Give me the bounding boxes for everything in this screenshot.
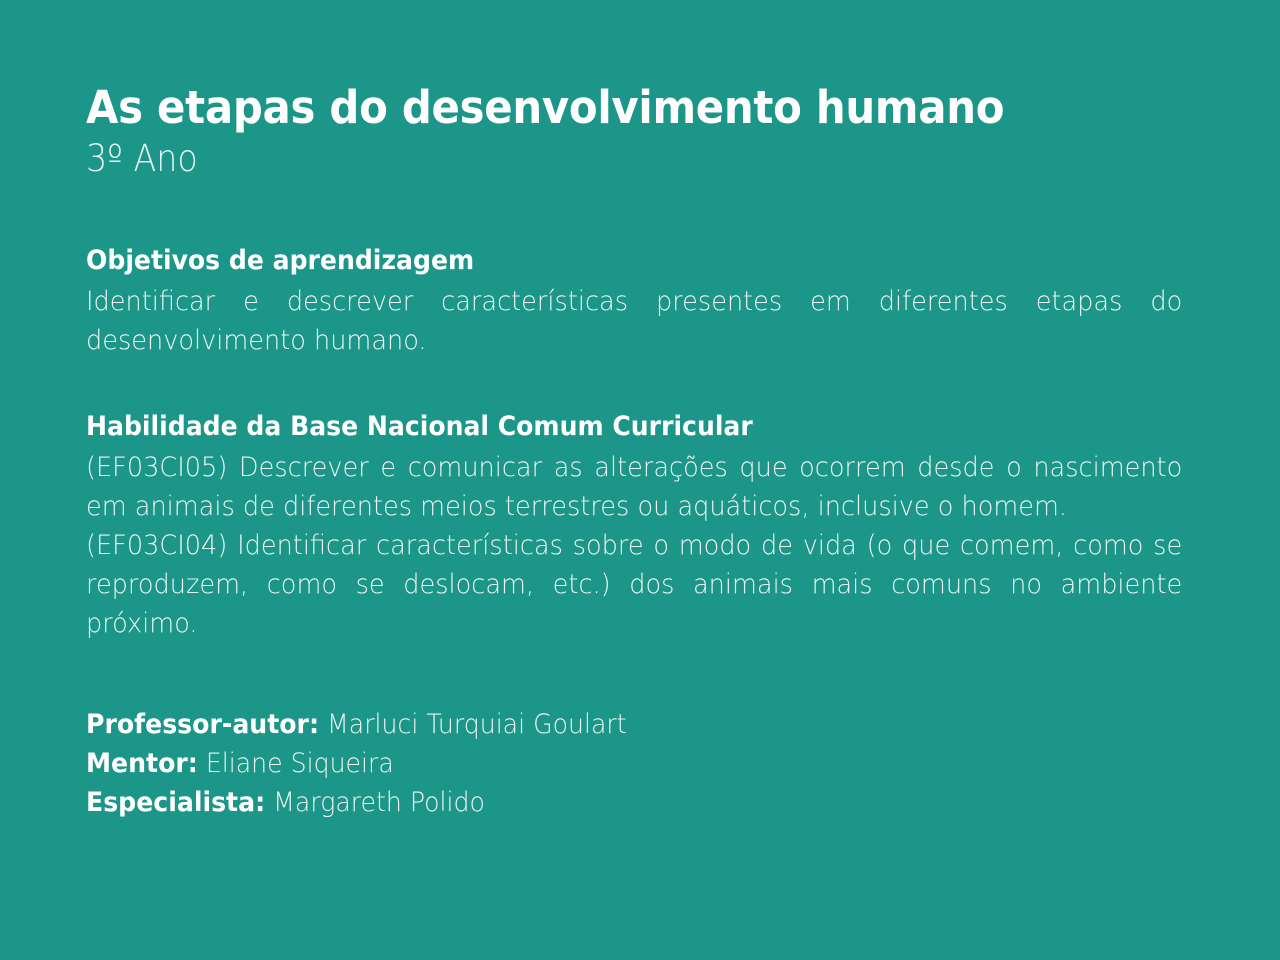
credit-label-especialista: Especialista: [86,787,265,818]
bncc-skill-ef03ci05: (EF03CI05) Descrever e comunicar as alte… [86,448,1182,526]
section-bncc-skills: Habilidade da Base Nacional Comum Curric… [86,408,1222,643]
credit-value-professor-autor: Marluci Turquiai Goulart [319,709,627,740]
slide-title: As etapas do desenvolvimento humano [86,80,1142,136]
slide-subtitle: 3º Ano [86,136,1108,182]
credit-value-especialista: Margareth Polido [265,787,485,818]
slide-content: As etapas do desenvolvimento humano 3º A… [86,80,1222,822]
section-heading-learning-objectives: Objetivos de aprendizagem [86,242,1142,280]
credit-line-mentor: Mentor: Eliane Siqueira [86,744,1165,783]
learning-objectives-paragraph: Identificar e descrever características … [86,282,1182,360]
slide-canvas: As etapas do desenvolvimento humano 3º A… [0,0,1280,960]
bncc-skill-ef03ci04: (EF03CI04) Identificar características s… [86,526,1182,643]
credit-label-professor-autor: Professor-autor: [86,709,319,740]
credit-label-mentor: Mentor: [86,748,198,779]
credit-line-professor-autor: Professor-autor: Marluci Turquiai Goular… [86,705,1165,744]
credits-block: Professor-autor: Marluci Turquiai Goular… [86,705,1222,822]
credit-line-especialista: Especialista: Margareth Polido [86,783,1165,822]
credit-value-mentor: Eliane Siqueira [198,748,394,779]
section-heading-bncc-skills: Habilidade da Base Nacional Comum Curric… [86,408,1142,446]
section-learning-objectives: Objetivos de aprendizagem Identificar e … [86,242,1222,360]
